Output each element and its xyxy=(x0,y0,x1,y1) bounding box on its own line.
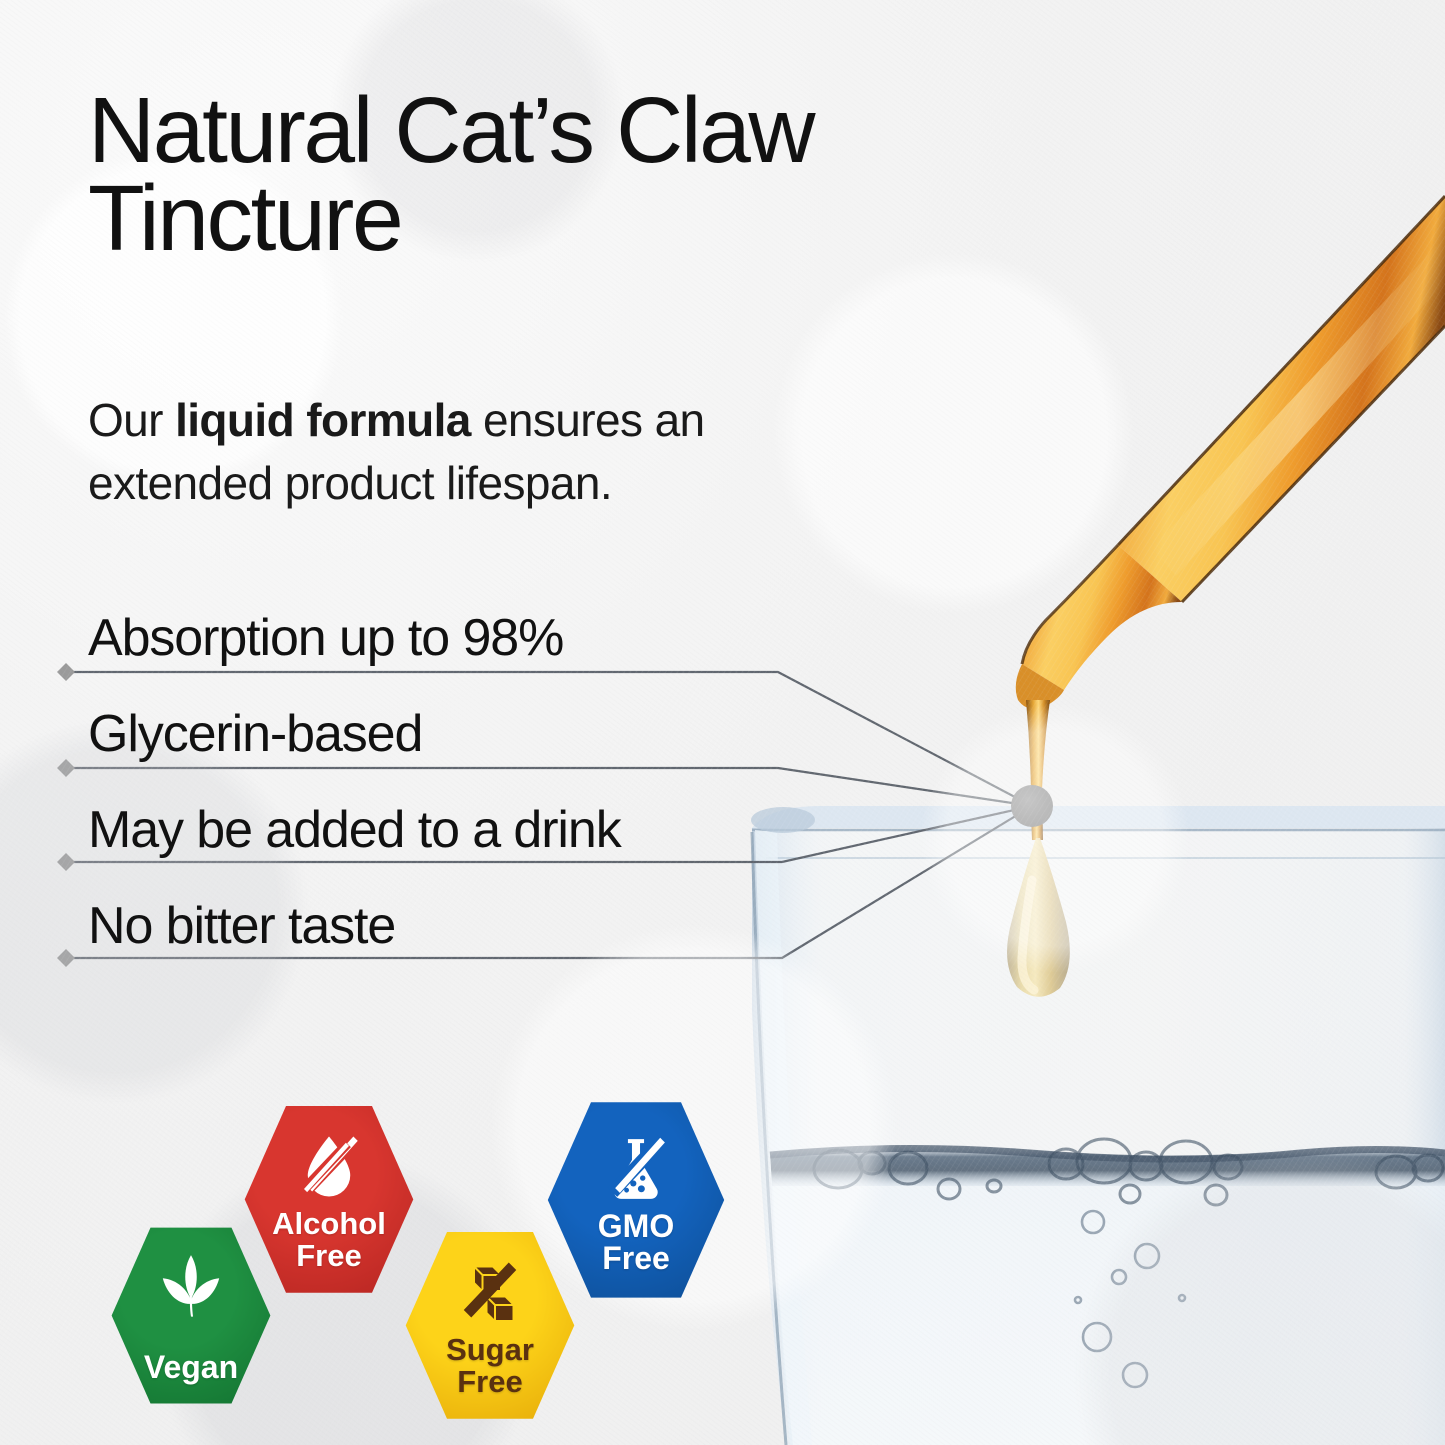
subtitle-emphasis: liquid formula xyxy=(175,394,471,446)
badge-sugar-free-label: Sugar Free xyxy=(446,1334,534,1397)
liquid-stream xyxy=(1026,700,1050,790)
callout-marker-2 xyxy=(57,759,75,777)
glass-rim-corner xyxy=(751,807,815,833)
subtitle-before: Our xyxy=(88,394,175,446)
dropper-highlight xyxy=(1152,237,1445,576)
callout-markers xyxy=(57,663,75,967)
badge-alcohol-free-label: Alcohol Free xyxy=(272,1208,386,1271)
badge-vegan-label: Vegan xyxy=(144,1351,238,1384)
glass-rim xyxy=(752,806,1445,828)
subtitle: Our liquid formula ensures an extended p… xyxy=(88,389,808,514)
product-infographic: Natural Cat’s Claw Tincture Our liquid f… xyxy=(0,0,1445,1445)
callout-marker-1 xyxy=(57,663,75,681)
feature-label-3: May be added to a drink xyxy=(88,804,621,856)
water xyxy=(770,1139,1445,1445)
page-title: Natural Cat’s Claw Tincture xyxy=(88,86,1088,263)
callout-marker-3 xyxy=(57,853,75,871)
callout-converge-dot xyxy=(1011,785,1053,827)
feature-label-1: Absorption up to 98% xyxy=(88,612,563,664)
badge-gmo-free-label: GMO Free xyxy=(598,1210,674,1275)
feature-label-4: No bitter taste xyxy=(88,900,395,952)
feature-label-2: Glycerin-based xyxy=(88,708,422,760)
water-body xyxy=(772,1160,1445,1445)
callout-marker-4 xyxy=(57,949,75,967)
